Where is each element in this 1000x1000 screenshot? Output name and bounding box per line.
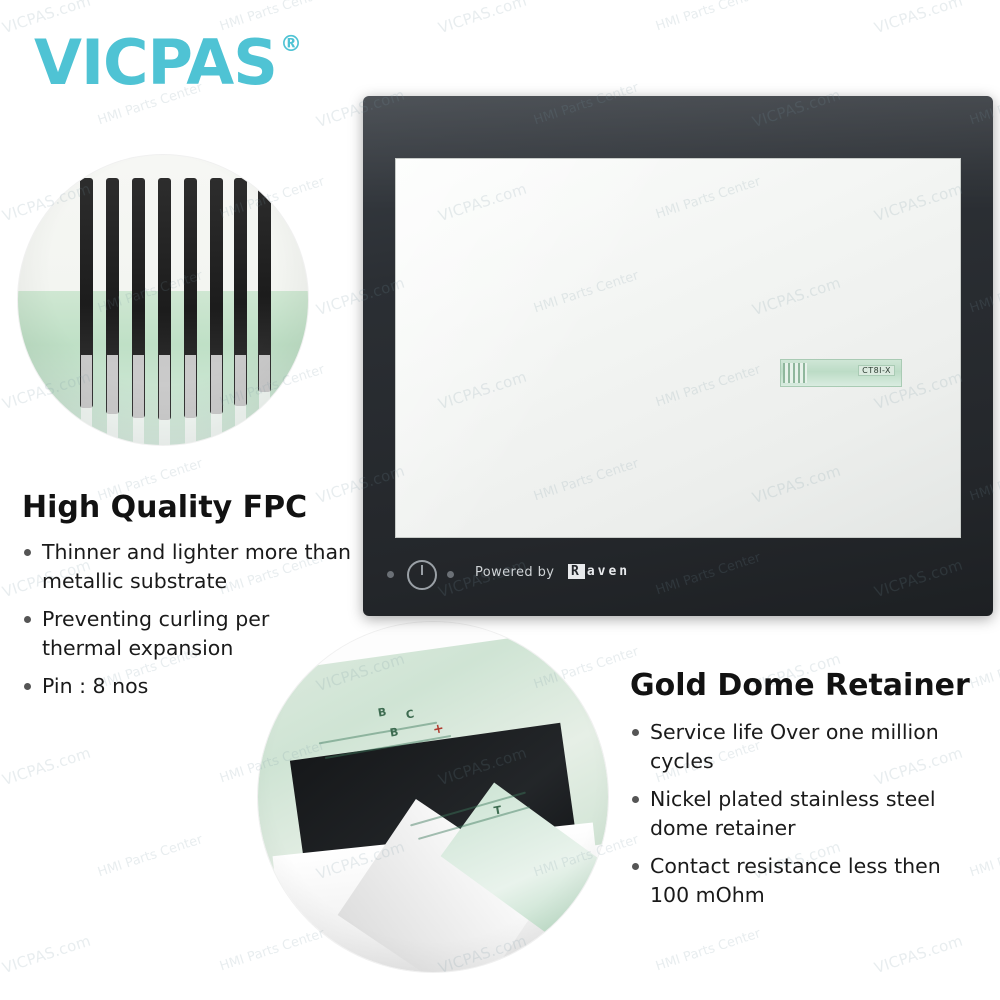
dome-feature-list: Service life Over one million cycles Nic… [630,718,980,919]
fpc-photo-vignette [18,155,308,445]
watermark-text: HMI Parts Center [96,832,205,880]
watermark-text: VICPAS.com [0,744,93,790]
powered-by-label: Powered by [475,565,554,580]
ffc-connector: CT8I-X [780,359,902,387]
watermark-text: VICPAS.com [872,0,965,37]
ffc-label: CT8I-X [858,365,895,376]
dome-section-title: Gold Dome Retainer [630,668,970,703]
raven-wordmark: aven [587,564,630,579]
status-led-right [447,571,454,578]
screen-glare [396,159,960,537]
fpc-feature-list: Thinner and lighter more than metallic s… [22,538,352,710]
watermark-text: HMI Parts Center [968,644,1000,692]
brand-name: VICPAS [34,26,277,99]
fpc-closeup-photo [18,155,308,445]
status-led-left [387,571,394,578]
list-item: Contact resistance less then 100 mOhm [630,852,980,910]
list-item: Pin : 8 nos [22,672,352,701]
list-item: Service life Over one million cycles [630,718,980,776]
watermark-text: VICPAS.com [436,0,529,37]
watermark-text: VICPAS.com [0,932,93,978]
list-item: Thinner and lighter more than metallic s… [22,538,352,596]
brand-logo: VICPAS® [34,26,298,99]
list-item: Nickel plated stainless steel dome retai… [630,785,980,843]
watermark-text: HMI Parts Center [654,0,763,34]
poster-canvas: VICPAS® CT8I-X [0,0,1000,1000]
hmi-touch-panel: CT8I-X Powered by Raven [363,96,993,616]
ffc-pins [783,363,807,383]
panel-bottom-bar: Powered by Raven [363,538,993,616]
power-icon [407,560,437,590]
list-item: Preventing curling per thermal expansion [22,605,352,663]
panel-screen: CT8I-X [395,158,961,538]
watermark-text: VICPAS.com [872,932,965,978]
registered-mark: ® [280,32,301,57]
watermark-text: HMI Parts Center [654,926,763,974]
raven-logo: Raven [568,564,630,579]
raven-initial: R [568,564,585,579]
fpc-section-title: High Quality FPC [22,490,307,525]
